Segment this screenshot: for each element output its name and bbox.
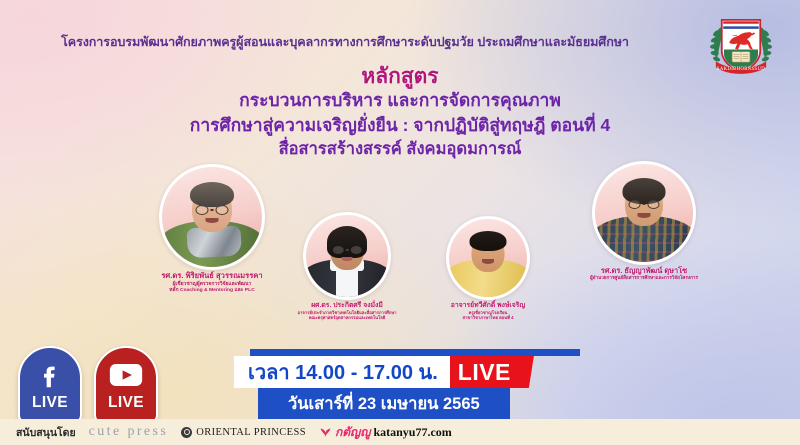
speaker-4-caption: รศ.ดร. ธัญญาพัฒน์ ดุษาโซ ผู้อำนวยการศูนย… xyxy=(559,267,729,281)
youtube-live-label: LIVE xyxy=(108,394,144,412)
speaker-2-role-2: คณะครุศาสตร์อุตสาหกรรมและเทคโนโลยี xyxy=(275,315,419,320)
speaker-4-role-1: ผู้อำนวยการศูนย์สื่อสารการศึกษาและการวิจ… xyxy=(562,276,725,281)
oriental-princess-mark-icon xyxy=(181,427,192,438)
schedule-date-text: วันเสาร์ที่ 23 เมษายน 2565 xyxy=(258,388,510,421)
youtube-icon xyxy=(109,357,143,393)
sponsor-oriental-princess: ORIENTAL PRINCESS xyxy=(181,427,306,438)
speaker-3-name: อาจารย์ทวีศักดิ์ พงษ์เจริญ xyxy=(418,302,558,310)
speaker-3-role-2: สาขาวิชาภาษาไทย ตอนที่ 4 xyxy=(421,315,555,320)
schedule-top-bar xyxy=(250,349,580,356)
speaker-3-avatar xyxy=(446,216,530,300)
schedule-time-text: เวลา 14.00 - 17.00 น. xyxy=(234,356,450,388)
speaker-2-avatar xyxy=(303,212,391,300)
sponsor-bar: สนับสนุนโดย cute press ORIENTAL PRINCESS… xyxy=(0,419,800,445)
speaker-card-3: อาจารย์ทวีศักดิ์ พงษ์เจริญ ครูเชี่ยวชาญโ… xyxy=(418,216,558,320)
facebook-icon xyxy=(35,357,65,393)
speaker-2-caption: ผศ.ดร. ประกิตศรี จงมั่งมี อาจารย์ประจำภา… xyxy=(272,302,422,320)
course-title-line-3: สื่อสารสร้างสรรค์ สังคมอุดมการณ์ xyxy=(0,138,800,161)
sponsor-katanyu[interactable]: กตัญญู katanyu77.com xyxy=(319,423,452,442)
course-title: กระบวนการบริหาร และการจัดการคุณภาพ การศึ… xyxy=(0,88,800,161)
poster-canvas: SAKDIBHORNSSUD โครงการอบรมพัฒนาศักยภาพคร… xyxy=(0,0,800,445)
speaker-4-name: รศ.ดร. ธัญญาพัฒน์ ดุษาโซ xyxy=(559,267,729,276)
sponsor-katanyu-url: katanyu77.com xyxy=(373,425,451,440)
speaker-1-role-2: หลัก Coaching & Mentoring และ PLC xyxy=(130,287,293,293)
program-subtitle: โครงการอบรมพัฒนาศักยภาพครูผู้สอนและบุคลา… xyxy=(0,32,690,52)
sponsor-oriental-princess-label: ORIENTAL PRINCESS xyxy=(196,427,306,438)
course-title-line-1: กระบวนการบริหาร และการจัดการคุณภาพ xyxy=(0,88,800,113)
schedule-time-row: เวลา 14.00 - 17.00 น. LIVE xyxy=(234,356,534,388)
speaker-4-avatar xyxy=(592,161,696,265)
course-title-line-2: การศึกษาสู่ความเจริญยั่งยืน : จากปฏิบัติ… xyxy=(0,113,800,138)
speaker-card-2: ผศ.ดร. ประกิตศรี จงมั่งมี อาจารย์ประจำภา… xyxy=(272,212,422,320)
speaker-2-name: ผศ.ดร. ประกิตศรี จงมั่งมี xyxy=(272,302,422,310)
facebook-live-label: LIVE xyxy=(32,394,68,412)
youtube-live-button[interactable]: LIVE xyxy=(94,346,158,424)
sponsor-cute-press: cute press xyxy=(89,424,169,440)
speaker-1-avatar xyxy=(159,164,265,270)
sponsor-label: สนับสนุนโดย xyxy=(16,424,76,441)
live-badge-slant xyxy=(520,356,534,388)
katanyu-leaf-icon xyxy=(319,426,332,439)
speaker-1-role-1: ผู้เชี่ยวชาญผู้ตรวจการวิจัยและพัฒนา xyxy=(130,281,293,287)
sponsor-katanyu-th: กตัญญู xyxy=(335,423,371,442)
speaker-card-4: รศ.ดร. ธัญญาพัฒน์ ดุษาโซ ผู้อำนวยการศูนย… xyxy=(559,161,729,281)
speaker-3-caption: อาจารย์ทวีศักดิ์ พงษ์เจริญ ครูเชี่ยวชาญโ… xyxy=(418,302,558,320)
live-badge: LIVE xyxy=(450,356,520,388)
social-live-buttons: LIVE LIVE xyxy=(18,346,158,424)
facebook-live-button[interactable]: LIVE xyxy=(18,346,82,424)
